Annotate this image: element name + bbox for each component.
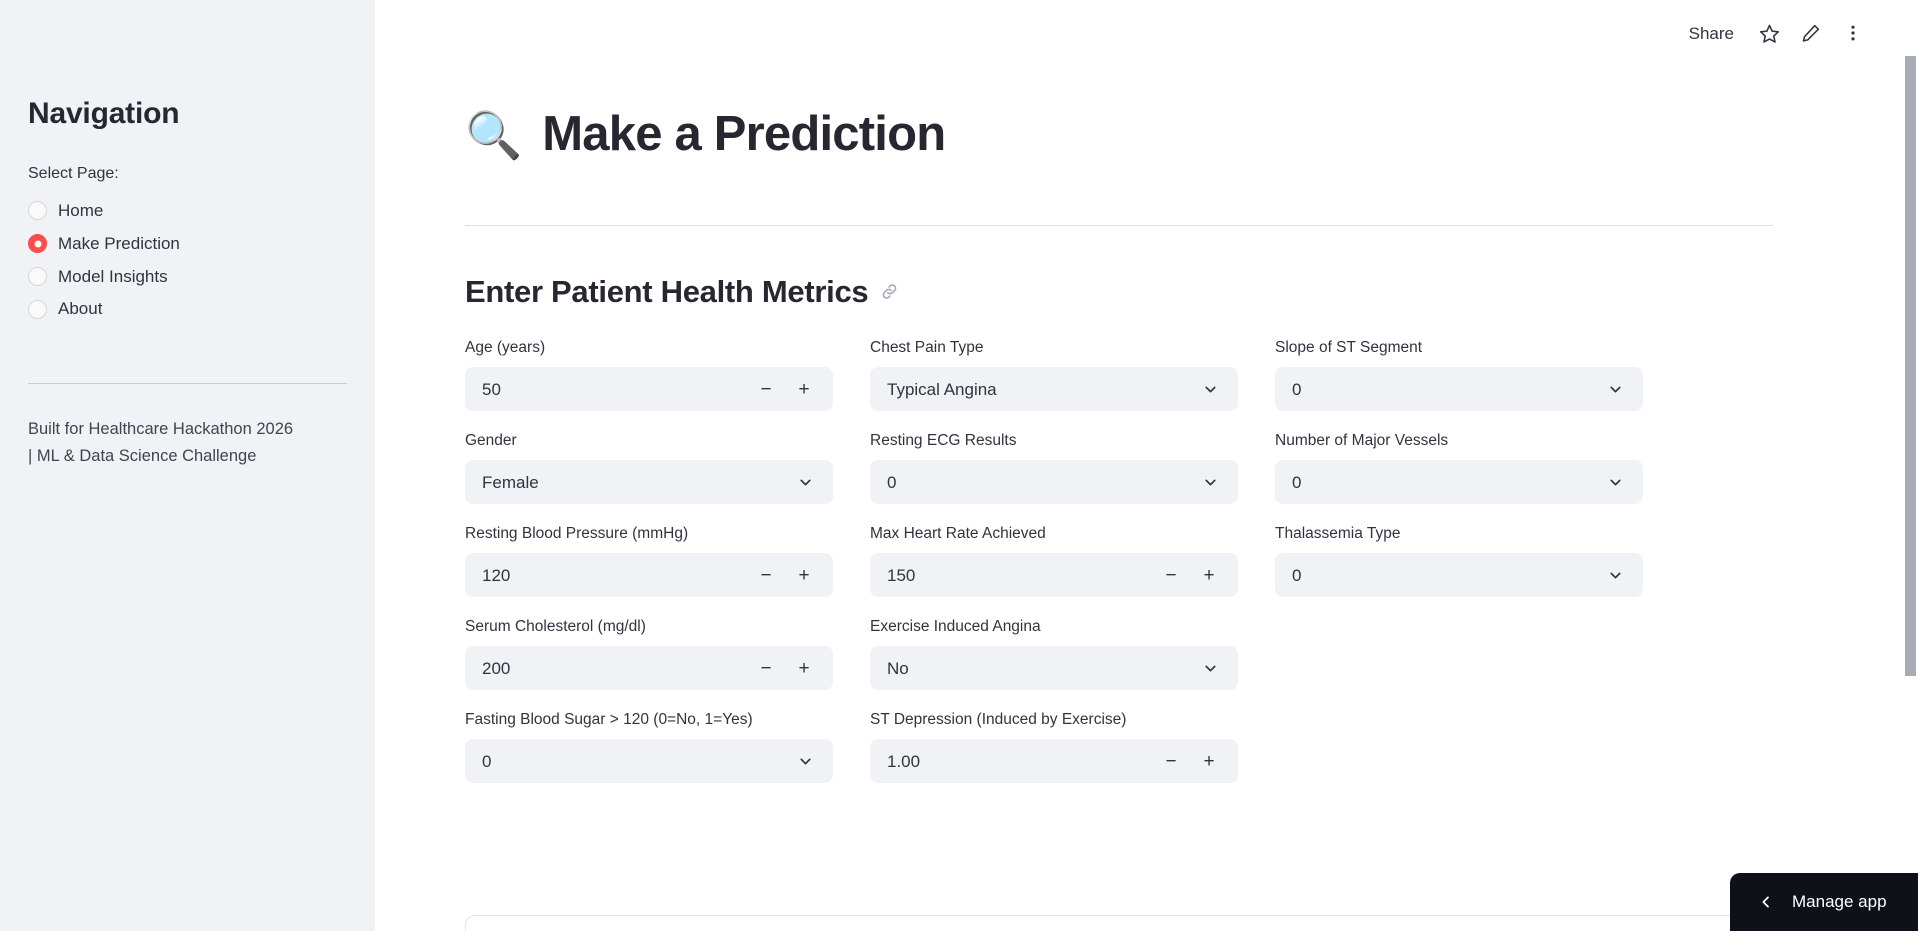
page-title: Make a Prediction (542, 108, 945, 162)
manage-app-button[interactable]: Manage app (1730, 873, 1918, 931)
chevron-down-icon (797, 474, 818, 491)
scrollbar-thumb[interactable] (1905, 56, 1916, 676)
chevron-down-icon (1607, 381, 1628, 398)
sidebar-divider (28, 383, 347, 384)
sidebar: Navigation Select Page: Home Make Predic… (0, 0, 375, 931)
field-st-depression-induced-by-exercise: ST Depression (Induced by Exercise)1.00−… (870, 708, 1238, 783)
number-input-age-years[interactable]: 50−+ (465, 367, 833, 411)
field-serum-cholesterol-mg-dl: Serum Cholesterol (mg/dl)200−+ (465, 615, 833, 690)
link-anchor-icon[interactable] (880, 282, 899, 301)
chevron-down-icon (1607, 474, 1628, 491)
results-container (465, 915, 1773, 931)
chevron-down-icon (1607, 567, 1628, 584)
sidebar-item-about[interactable]: About (28, 297, 347, 321)
decrement-button[interactable]: − (758, 566, 774, 585)
field-label: Number of Major Vessels (1275, 429, 1643, 453)
increment-button[interactable]: + (796, 380, 812, 399)
manage-app-label: Manage app (1792, 892, 1887, 912)
sidebar-title: Navigation (28, 96, 347, 132)
field-label: Exercise Induced Angina (870, 615, 1238, 639)
number-input-resting-blood-pressure-mmhg[interactable]: 120−+ (465, 553, 833, 597)
field-fasting-blood-sugar-120-0-no-1-yes: Fasting Blood Sugar > 120 (0=No, 1=Yes)0 (465, 708, 833, 783)
main-content: Share 🔍 Make a Prediction (375, 0, 1918, 931)
sidebar-item-label: Make Prediction (58, 232, 180, 256)
page-radio-group[interactable]: Home Make Prediction Model Insights Abou… (28, 199, 347, 321)
field-number-of-major-vessels: Number of Major Vessels0 (1275, 429, 1643, 504)
patient-metrics-form: Age (years)50−+Chest Pain TypeTypical An… (465, 336, 1813, 801)
field-label: Chest Pain Type (870, 336, 1238, 360)
select-fasting-blood-sugar-120-0-no-1-yes[interactable]: 0 (465, 739, 833, 783)
field-label: Fasting Blood Sugar > 120 (0=No, 1=Yes) (465, 708, 833, 732)
field-value: 120 (482, 567, 510, 584)
field-value: Female (482, 474, 539, 491)
field-value: 0 (1292, 474, 1301, 491)
radio-icon (28, 300, 47, 319)
decrement-button[interactable]: − (758, 659, 774, 678)
decrement-button[interactable]: − (1163, 752, 1179, 771)
field-slope-of-st-segment: Slope of ST Segment0 (1275, 336, 1643, 411)
page-header: 🔍 Make a Prediction (465, 108, 1813, 162)
field-value: 0 (887, 474, 896, 491)
page-content: 🔍 Make a Prediction Enter Patient Health… (375, 0, 1903, 801)
field-value: 150 (887, 567, 915, 584)
field-value: 1.00 (887, 753, 920, 770)
number-input-st-depression-induced-by-exercise[interactable]: 1.00−+ (870, 739, 1238, 783)
field-label: Thalassemia Type (1275, 522, 1643, 546)
section-title: Enter Patient Health Metrics (465, 273, 868, 310)
header-divider (465, 225, 1773, 226)
field-exercise-induced-angina: Exercise Induced AnginaNo (870, 615, 1238, 690)
field-value: 0 (1292, 381, 1301, 398)
number-input-max-heart-rate-achieved[interactable]: 150−+ (870, 553, 1238, 597)
number-input-serum-cholesterol-mg-dl[interactable]: 200−+ (465, 646, 833, 690)
field-max-heart-rate-achieved: Max Heart Rate Achieved150−+ (870, 522, 1238, 597)
field-label: Gender (465, 429, 833, 453)
kebab-menu-icon[interactable] (1832, 12, 1874, 54)
select-chest-pain-type[interactable]: Typical Angina (870, 367, 1238, 411)
increment-button[interactable]: + (796, 566, 812, 585)
field-value: 0 (1292, 567, 1301, 584)
sidebar-item-home[interactable]: Home (28, 199, 347, 223)
increment-button[interactable]: + (1201, 566, 1217, 585)
chevron-down-icon (1202, 660, 1223, 677)
sidebar-caption: Built for Healthcare Hackathon 2026 | ML… (28, 416, 298, 469)
field-label: Resting ECG Results (870, 429, 1238, 453)
select-exercise-induced-angina[interactable]: No (870, 646, 1238, 690)
field-value: 50 (482, 381, 501, 398)
field-label: Slope of ST Segment (1275, 336, 1643, 360)
decrement-button[interactable]: − (1163, 566, 1179, 585)
select-slope-of-st-segment[interactable]: 0 (1275, 367, 1643, 411)
field-resting-ecg-results: Resting ECG Results0 (870, 429, 1238, 504)
radio-icon-selected (28, 234, 47, 253)
radio-icon (28, 201, 47, 220)
chevron-down-icon (1202, 474, 1223, 491)
select-page-label: Select Page: (28, 162, 347, 186)
increment-button[interactable]: + (1201, 752, 1217, 771)
increment-button[interactable]: + (796, 659, 812, 678)
stepper-controls: −+ (1163, 752, 1223, 771)
field-resting-blood-pressure-mmhg: Resting Blood Pressure (mmHg)120−+ (465, 522, 833, 597)
stepper-controls: −+ (758, 659, 818, 678)
chevron-down-icon (1202, 381, 1223, 398)
radio-icon (28, 267, 47, 286)
sidebar-item-label: Model Insights (58, 265, 168, 289)
field-value: Typical Angina (887, 381, 997, 398)
page-scrollbar[interactable] (1903, 0, 1918, 931)
decrement-button[interactable]: − (758, 380, 774, 399)
app-toolbar: Share (1675, 0, 1918, 66)
pencil-icon[interactable] (1790, 12, 1832, 54)
sidebar-item-label: Home (58, 199, 103, 223)
field-value: No (887, 660, 909, 677)
sidebar-item-model-insights[interactable]: Model Insights (28, 265, 347, 289)
field-chest-pain-type: Chest Pain TypeTypical Angina (870, 336, 1238, 411)
chevron-left-icon (1758, 894, 1774, 910)
stepper-controls: −+ (758, 380, 818, 399)
magnifier-icon: 🔍 (465, 112, 522, 158)
select-number-of-major-vessels[interactable]: 0 (1275, 460, 1643, 504)
star-icon[interactable] (1748, 12, 1790, 54)
field-label: Max Heart Rate Achieved (870, 522, 1238, 546)
streamlit-app: Navigation Select Page: Home Make Predic… (0, 0, 1918, 931)
stepper-controls: −+ (1163, 566, 1223, 585)
sidebar-item-label: About (58, 297, 102, 321)
chevron-down-icon (797, 753, 818, 770)
field-gender: GenderFemale (465, 429, 833, 504)
share-button[interactable]: Share (1675, 18, 1748, 49)
select-gender[interactable]: Female (465, 460, 833, 504)
section-header: Enter Patient Health Metrics (465, 273, 1813, 310)
field-age-years: Age (years)50−+ (465, 336, 833, 411)
field-label: Age (years) (465, 336, 833, 360)
stepper-controls: −+ (758, 566, 818, 585)
field-value: 200 (482, 660, 510, 677)
select-thalassemia-type[interactable]: 0 (1275, 553, 1643, 597)
field-thalassemia-type: Thalassemia Type0 (1275, 522, 1643, 597)
field-value: 0 (482, 753, 491, 770)
field-label: Serum Cholesterol (mg/dl) (465, 615, 833, 639)
field-label: ST Depression (Induced by Exercise) (870, 708, 1238, 732)
sidebar-item-make-prediction[interactable]: Make Prediction (28, 232, 347, 256)
select-resting-ecg-results[interactable]: 0 (870, 460, 1238, 504)
field-label: Resting Blood Pressure (mmHg) (465, 522, 833, 546)
